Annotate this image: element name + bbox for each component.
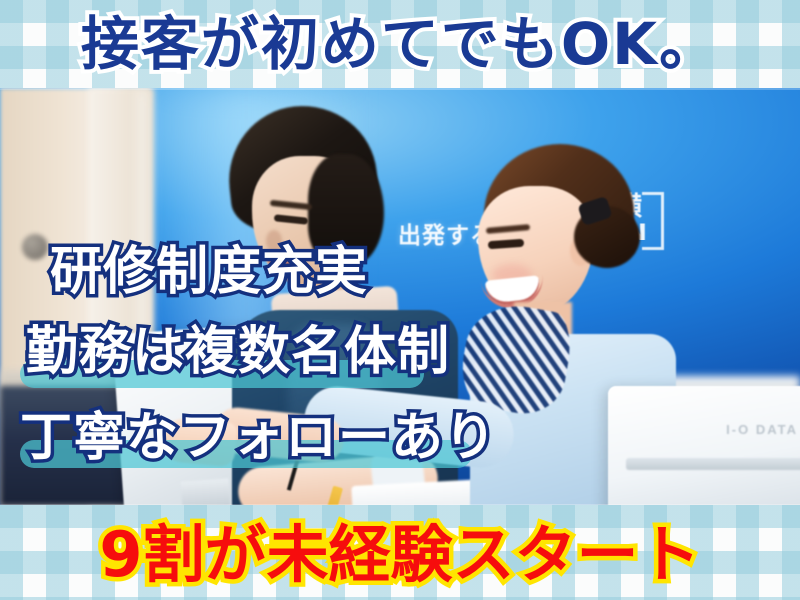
photo-wall-knob (22, 234, 48, 260)
recruitment-poster: 接客が初めてでもOK。 出発するホテル。 東横 INN (0, 0, 800, 600)
page-title: 接客が初めてでもOK。 (0, 2, 800, 86)
feature-text-3: 丁寧なフォローあり (20, 412, 497, 464)
footer-headline: 9割が未経験スタート (0, 516, 800, 594)
feature-text-1: 研修制度充実 (50, 246, 368, 298)
feature-text-2: 勤務は複数名体制 (26, 326, 450, 378)
photo-top-seam (0, 88, 800, 90)
monitor-slot (626, 458, 800, 470)
monitor-right: I-O DATA (608, 386, 800, 506)
monitor-brand-label: I-O DATA (726, 422, 798, 437)
